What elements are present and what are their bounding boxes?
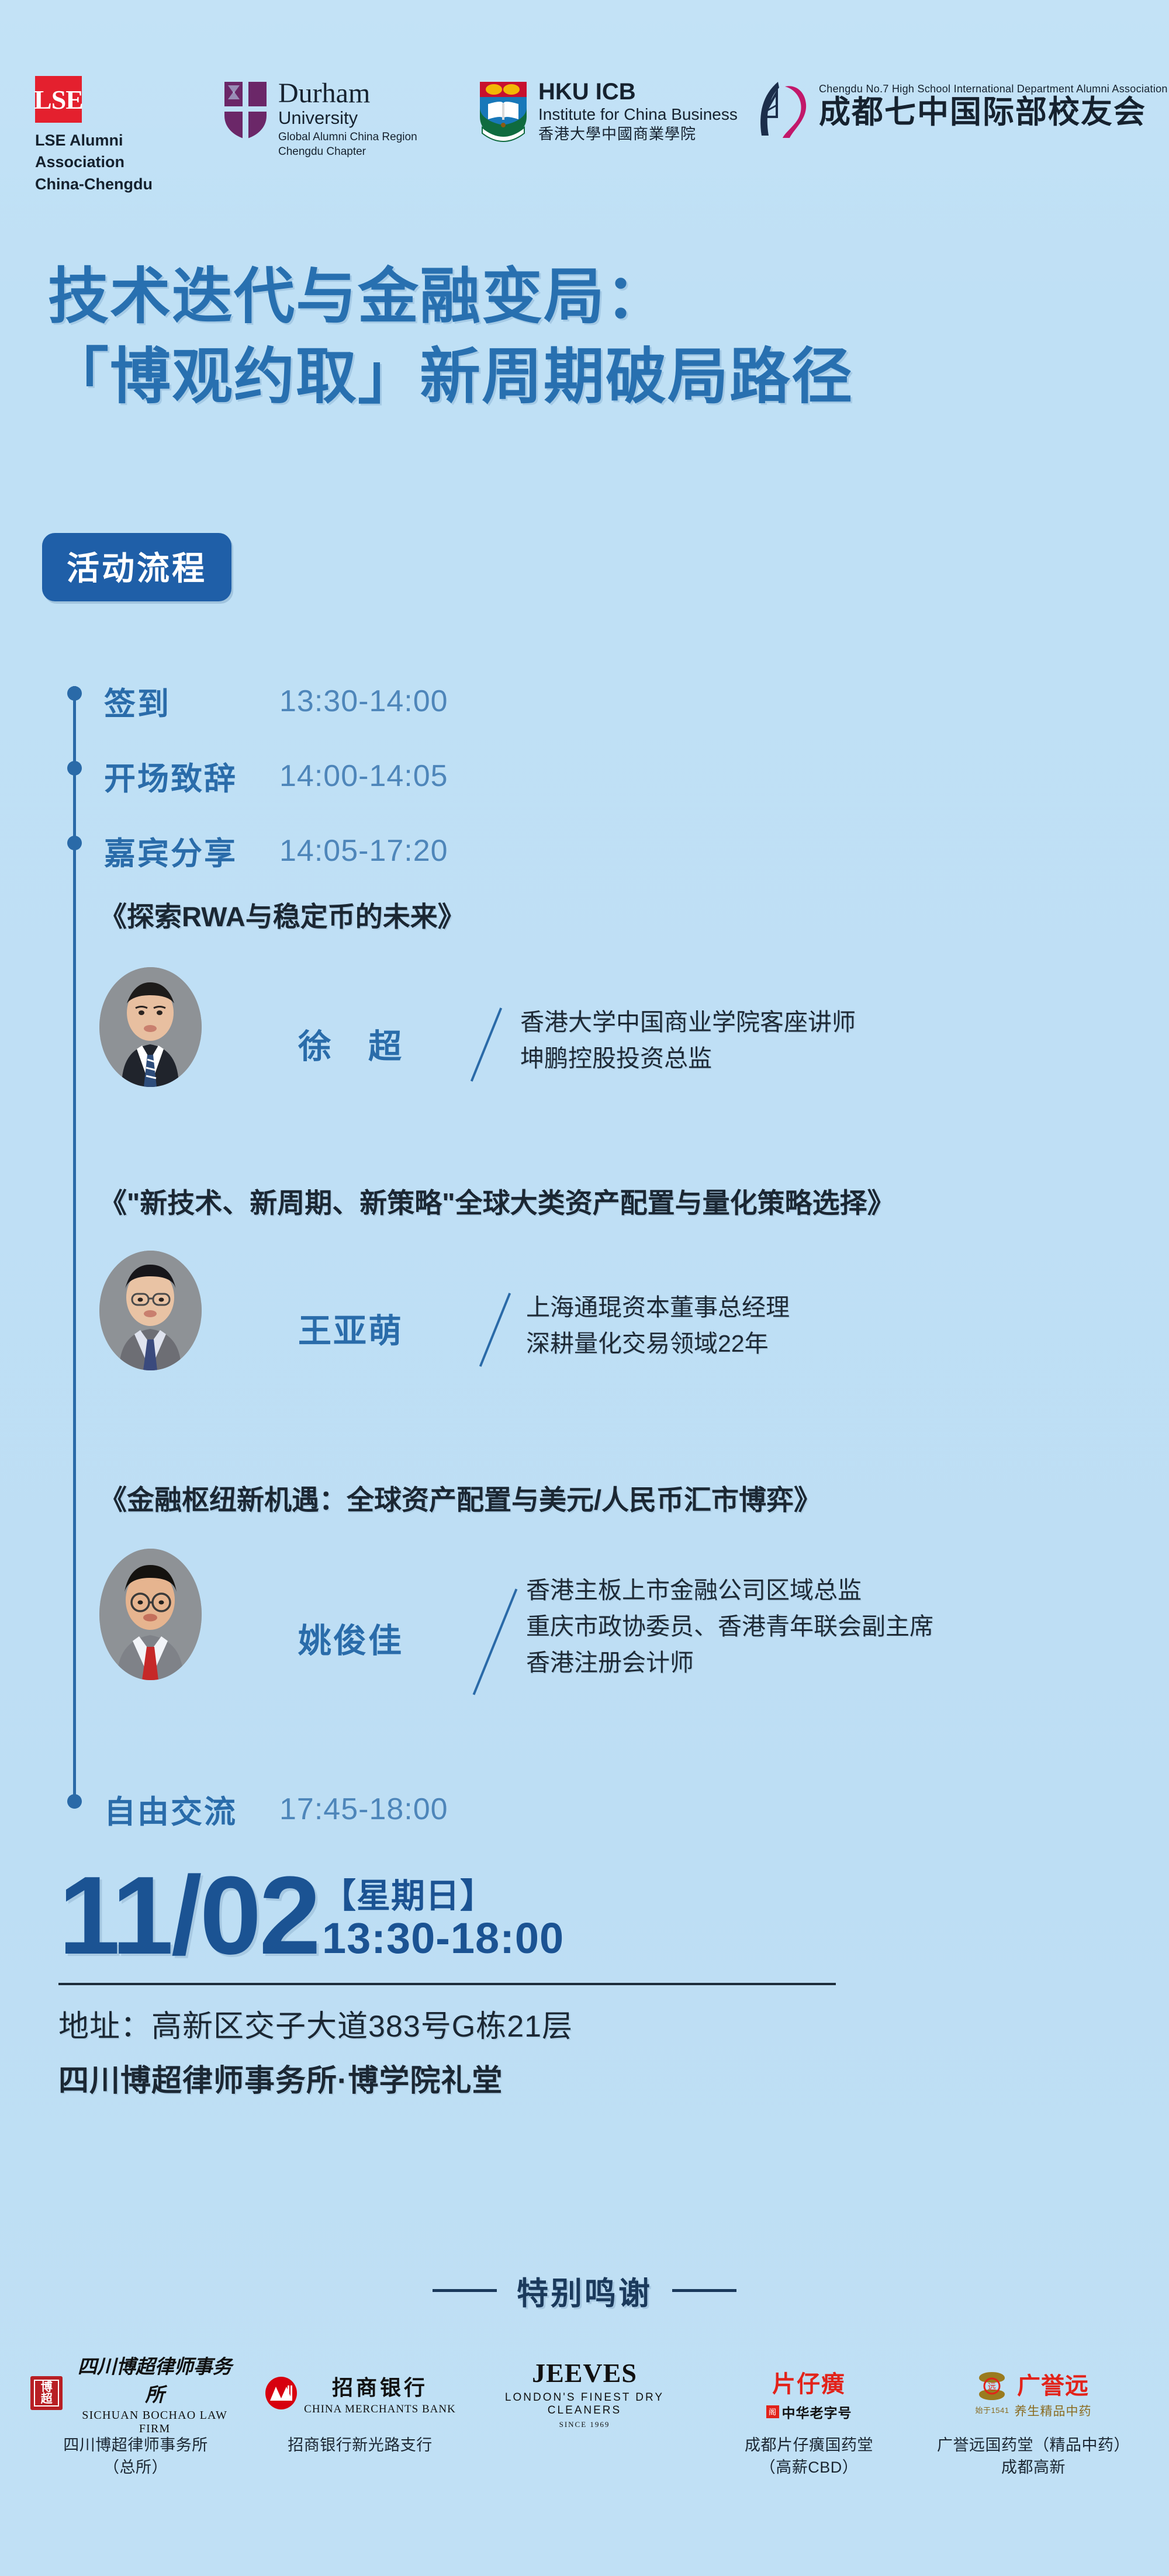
talk-2-slash-separator (473, 1588, 518, 1695)
event-time-range: 13:30-18:00 (322, 1916, 564, 1961)
logo-lse-alumni: LSE LSE Alumni Association China-Chengdu (35, 76, 158, 195)
timeline-dot-icon (67, 686, 82, 701)
bochao-seal-icon (30, 2376, 63, 2410)
logo-hku-icb: HKU ICB Institute for China Business 香港大… (476, 79, 738, 143)
sponsor-logo-row: 四川博超律师事务所 SICHUAN BOCHAO LAW FIRM 四川博超律师… (0, 2361, 1169, 2479)
talk-1-slash-separator (479, 1293, 511, 1367)
agenda-item-3-label: 自由交流 (104, 1786, 279, 1832)
talk-1-title: 《"新技术、新周期、新策略"全球大类资产配置与量化策略选择》 (99, 1180, 895, 1221)
event-date-row: 11/02 【星期日】 13:30-18:00 (58, 1864, 1122, 1968)
sponsor-caption-bochao: 四川博超律师事务所 （总所） (30, 2435, 241, 2479)
cmb-en: CHINA MERCHANTS BANK (304, 2403, 456, 2416)
poster-title-line2: 「博观约取」新周期破局路径 (48, 337, 1129, 417)
sponsor-sichuan-bochao: 四川博超律师事务所 SICHUAN BOCHAO LAW FIRM 四川博超律师… (30, 2361, 241, 2479)
agenda-section-badge: 活动流程 (42, 533, 231, 601)
talk-2-speaker-name: 姚俊佳 (298, 1614, 403, 1662)
pianzihuang-badge-icon: 阁 (766, 2405, 779, 2418)
sponsor-logo-cmb: 招商银行 CHINA MERCHANTS BANK (255, 2361, 465, 2425)
cmb-cn: 招商银行 (304, 2371, 456, 2401)
guangyuyuan-since: 始于1541 (976, 2404, 1009, 2415)
talk-1-avatar (99, 1251, 202, 1370)
special-thanks-header: 特别鸣谢 (0, 2267, 1169, 2314)
talk-2-avatar (99, 1549, 202, 1680)
timeline-dot-icon (67, 761, 82, 775)
guangyuyuan-wordmark: 广誉远 (1014, 2367, 1091, 2401)
poster-root: LSE LSE Alumni Association China-Chengdu (0, 0, 1169, 2576)
pianzihuang-caption-line2: （高薪CBD） (704, 2457, 914, 2479)
agenda-item-2-label: 嘉宾分享 (104, 827, 279, 874)
hku-crest-icon (476, 79, 530, 143)
talk-1-bio-line-0: 上海通琨资本董事总经理 (526, 1289, 790, 1325)
thanks-label: 特别鸣谢 (517, 2267, 652, 2314)
lse-label-line1: LSE Alumni (35, 130, 158, 151)
agenda-item-1-time: 14:00-14:05 (279, 759, 448, 794)
sponsor-logo-jeeves: JEEVES LONDON'S FINEST DRY CLEANERS SINC… (479, 2361, 690, 2425)
logo-chengdu-no7-alumni: Chengdu No.7 High School International D… (751, 78, 1168, 141)
guangyuyuan-caption-line1: 广誉远国药堂（精品中药） (928, 2435, 1139, 2457)
durham-text: Durham University Global Alumni China Re… (278, 79, 417, 160)
organizer-logo-bar: LSE LSE Alumni Association China-Chengdu (0, 70, 1169, 187)
guangyuyuan-caption-line2: 成都高新 (928, 2457, 1139, 2479)
agenda-item-1-label: 开场致辞 (104, 753, 279, 799)
talk-1-speaker-name: 王亚萌 (298, 1304, 403, 1352)
agenda-item-1: 开场致辞 14:00-14:05 (64, 753, 448, 799)
event-date-side: 【星期日】 13:30-18:00 (322, 1879, 564, 1967)
talk-0-avatar (99, 967, 202, 1087)
poster-title: 技术迭代与金融变局： 「博观约取」新周期破局路径 (48, 257, 1129, 418)
talk-0-title: 《探索RWA与稳定币的未来》 (99, 894, 465, 934)
cmb-caption-line1: 招商银行新光路支行 (255, 2435, 465, 2457)
bochao-caption-line1: 四川博超律师事务所 (30, 2435, 241, 2457)
hku-subtitle-cn: 香港大學中國商業學院 (538, 125, 738, 143)
durham-shield-icon (222, 79, 269, 141)
guangyuyuan-lockup: 远 始于1541 广誉远 养生精品中药 (976, 2367, 1092, 2419)
cmb-wordmark: 招商银行 CHINA MERCHANTS BANK (304, 2371, 456, 2416)
sponsor-caption-pianzihuang: 成都片仔癀国药堂 （高薪CBD） (704, 2435, 914, 2479)
sponsor-jeeves: JEEVES LONDON'S FINEST DRY CLEANERS SINC… (479, 2361, 690, 2435)
guangyuyuan-seal-icon: 远 (977, 2371, 1007, 2401)
sponsor-logo-guangyuyuan: 远 始于1541 广誉远 养生精品中药 (928, 2361, 1139, 2425)
svg-text:远: 远 (988, 2383, 996, 2392)
jeeves-tagline: LONDON'S FINEST DRY CLEANERS (479, 2391, 690, 2417)
jeeves-wordmark: JEEVES (532, 2357, 637, 2388)
timeline-dot-icon (67, 1794, 82, 1809)
event-address: 地址：高新区交子大道383号G栋21层 (58, 2002, 1122, 2045)
bochao-en: SICHUAN BOCHAO LAW FIRM (68, 2409, 241, 2436)
talk-2-bio-line-0: 香港主板上市金融公司区域总监 (526, 1572, 862, 1608)
event-weekday: 【星期日】 (322, 1879, 564, 1914)
sponsor-pianzihuang: 片仔癀 阁 中华老字号 成都片仔癀国药堂 （高薪CBD） (704, 2361, 914, 2479)
bochao-wordmark: 四川博超律师事务所 SICHUAN BOCHAO LAW FIRM (68, 2351, 241, 2436)
sponsor-caption-guangyuyuan: 广誉远国药堂（精品中药） 成都高新 (928, 2435, 1139, 2479)
pianzihuang-heritage-label: 中华老字号 (782, 2402, 852, 2422)
event-details: 11/02 【星期日】 13:30-18:00 地址：高新区交子大道383号G栋… (58, 1864, 1122, 2100)
chengdu-no7-text: Chengdu No.7 High School International D… (819, 78, 1168, 129)
sponsor-logo-pianzihuang: 片仔癀 阁 中华老字号 (704, 2361, 914, 2425)
talk-0-slash-separator (471, 1007, 502, 1082)
sponsor-china-merchants-bank: 招商银行 CHINA MERCHANTS BANK 招商银行新光路支行 (255, 2361, 465, 2457)
talk-1-bio-line-1: 深耕量化交易领域22年 (526, 1325, 769, 1362)
jeeves-since: SINCE 1969 (559, 2420, 610, 2429)
guangyuyuan-wordmark-group: 广誉远 养生精品中药 (1014, 2367, 1091, 2419)
talk-0-bio-line-0: 香港大学中国商业学院客座讲师 (520, 1004, 856, 1040)
durham-name: Durham (278, 79, 417, 108)
agenda-item-2: 嘉宾分享 14:05-17:20 (64, 827, 448, 874)
guangyuyuan-tagline: 养生精品中药 (1014, 2402, 1091, 2419)
event-venue: 四川博超律师事务所·博学院礼堂 (58, 2056, 1122, 2100)
timeline-dot-icon (67, 836, 82, 850)
agenda-item-2-time: 14:05-17:20 (279, 833, 448, 868)
agenda-item-0-time: 13:30-14:00 (279, 684, 448, 719)
talk-2-bio-line-2: 香港注册会计师 (526, 1644, 694, 1681)
guangyuyuan-mark-group: 远 始于1541 (976, 2371, 1009, 2415)
pianzihuang-wordmark: 片仔癀 (772, 2365, 846, 2399)
hku-title: HKU ICB (538, 79, 738, 104)
lse-label-line2: Association (35, 151, 158, 173)
thanks-rule-left (433, 2289, 497, 2292)
venue-divider (58, 1983, 836, 1985)
lse-mark-icon: LSE (35, 76, 82, 123)
bochao-lockup: 四川博超律师事务所 SICHUAN BOCHAO LAW FIRM (30, 2351, 241, 2436)
sponsor-guangyuyuan: 远 始于1541 广誉远 养生精品中药 广誉远国药堂（精品中药） 成都高新 (928, 2361, 1139, 2479)
poster-title-line1: 技术迭代与金融变局： (48, 263, 667, 331)
chengdu-no7-en: Chengdu No.7 High School International D… (819, 83, 1168, 95)
bochao-caption-line2: （总所） (30, 2457, 241, 2479)
agenda-item-0: 签到 13:30-14:00 (64, 678, 448, 724)
pianzihuang-subbadge: 阁 中华老字号 (766, 2402, 852, 2422)
hku-text: HKU ICB Institute for China Business 香港大… (538, 79, 738, 143)
lse-label: LSE Alumni Association China-Chengdu (35, 130, 158, 195)
talk-0-bio-line-1: 坤鹏控股投资总监 (520, 1040, 712, 1076)
chengdu-no7-cn: 成都七中国际部校友会 (819, 95, 1168, 129)
durham-sub-region: Global Alumni China Region (278, 130, 417, 145)
cmb-lockup: 招商银行 CHINA MERCHANTS BANK (264, 2371, 456, 2416)
sponsor-logo-bochao: 四川博超律师事务所 SICHUAN BOCHAO LAW FIRM (30, 2361, 241, 2425)
durham-sub-university: University (278, 109, 417, 128)
agenda-item-3: 自由交流 17:45-18:00 (64, 1786, 448, 1832)
agenda-item-0-label: 签到 (104, 678, 279, 724)
chengdu-no7-mark-icon (751, 78, 810, 141)
pianzihuang-caption-line1: 成都片仔癀国药堂 (704, 2435, 914, 2457)
event-date: 11/02 (58, 1864, 319, 1968)
thanks-rule-right (672, 2289, 736, 2292)
hku-subtitle-en: Institute for China Business (538, 105, 738, 124)
talk-2-bio-line-1: 重庆市政协委员、香港青年联会副主席 (526, 1608, 933, 1644)
durham-sub-chapter: Chengdu Chapter (278, 144, 417, 160)
bochao-cn: 四川博超律师事务所 (68, 2351, 241, 2407)
cmb-mark-icon (264, 2376, 298, 2410)
talk-2-title: 《金融枢纽新机遇：全球资产配置与美元/人民币汇市博弈》 (99, 1477, 821, 1518)
lse-label-line3: China-Chengdu (35, 174, 158, 195)
talk-0-speaker-name: 徐 超 (298, 1020, 403, 1068)
sponsor-caption-cmb: 招商银行新光路支行 (255, 2435, 465, 2457)
logo-durham-university: Durham University Global Alumni China Re… (222, 79, 417, 160)
agenda-item-3-time: 17:45-18:00 (279, 1792, 448, 1827)
